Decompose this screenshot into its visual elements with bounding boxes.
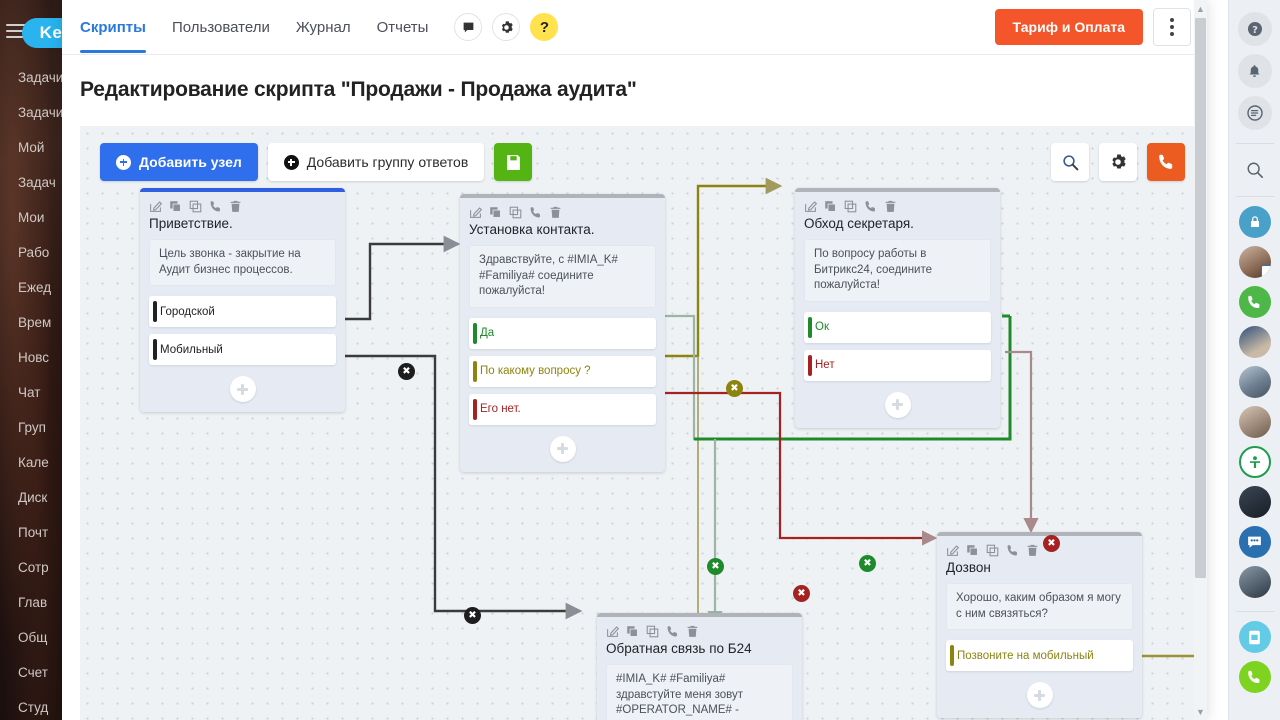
left-sidebar-item[interactable]: Задачи [0,95,62,130]
edit-icon[interactable] [469,206,482,219]
node-title: Установка контакта. [469,222,656,237]
script-canvas[interactable]: ✖ ✖ ✖ ✖ ✖ ✖ ✖ ✖ Добавить узел Добавить г… [80,126,1207,720]
left-sidebar-item[interactable]: Диск [0,480,62,515]
tab-users[interactable]: Пользователи [172,2,270,52]
duplicate-icon[interactable] [509,206,522,219]
node-answers: Да По какому вопросу ? Его нет. [469,318,656,425]
canvas-settings-button[interactable] [1099,143,1137,181]
copy-icon[interactable] [489,206,502,219]
node-obhod-sekretarya[interactable]: Обход секретаря. По вопросу работы в Бит… [795,188,1000,428]
avatar[interactable] [1239,406,1271,438]
gear-icon [1110,154,1126,170]
scrollbar-thumb[interactable] [1195,18,1206,578]
cloud-phone-icon[interactable] [1239,621,1271,653]
avatar[interactable] [1239,566,1271,598]
edge-marker-3[interactable]: ✖ [726,380,743,397]
save-icon [505,154,522,171]
bell-icon[interactable] [1238,54,1272,88]
more-options-button[interactable] [1153,8,1191,46]
copy-icon[interactable] [966,544,979,557]
workspace-logo[interactable]: Ke [22,18,62,48]
left-sidebar: Ke ЗадачиЗадачиМой ЗадачМои РабоЕжедВрем… [0,0,62,720]
node-ustanovka-kontakta[interactable]: Установка контакта. Здравствуйте, с #IMI… [460,194,665,472]
vertical-scrollbar[interactable]: ▲ ▼ [1194,0,1207,720]
answer-option[interactable]: Его нет. [469,394,656,425]
left-sidebar-item[interactable]: Кале [0,445,62,480]
edit-icon[interactable] [606,625,619,638]
app-root: Ke ЗадачиЗадачиМой ЗадачМои РабоЕжедВрем… [0,0,1280,720]
add-answer-button[interactable] [230,376,256,402]
canvas-toolbar: Добавить узел Добавить группу ответов [100,143,532,181]
plus-icon [284,155,299,170]
duplicate-icon[interactable] [986,544,999,557]
left-sidebar-item[interactable]: Груп [0,410,62,445]
left-sidebar-item[interactable]: Мои [0,200,62,235]
phone-icon[interactable] [1239,286,1271,318]
search-button[interactable] [1051,143,1089,181]
node-text: Цель звонка - закрытие на Аудит бизнес п… [149,239,336,286]
left-sidebar-item[interactable]: Задачи [0,60,62,95]
avatar[interactable] [1239,486,1271,518]
node-action-icons [804,200,991,213]
edge-marker-7[interactable]: ✖ [1043,535,1060,552]
answer-option[interactable]: Нет [804,350,991,381]
left-sidebar-item[interactable]: Почт [0,515,62,550]
save-button[interactable] [494,143,532,181]
node-body: Обход секретаря. По вопросу работы в Бит… [795,192,1000,428]
left-sidebar-item[interactable]: Глав [0,585,62,620]
left-sidebar-item[interactable]: Сотр [0,550,62,585]
node-privetstvie[interactable]: Приветствие. Цель звонка - закрытие на А… [140,188,345,412]
node-answers: Городской Мобильный [149,296,336,365]
call-button[interactable] [1147,143,1185,181]
group-chat-icon[interactable] [1239,526,1271,558]
edit-icon[interactable] [149,200,162,213]
left-sidebar-item[interactable]: Мой [0,130,62,165]
add-answer-group-button[interactable]: Добавить группу ответов [268,143,485,181]
search-icon[interactable] [1238,153,1272,187]
add-answer-button[interactable] [885,392,911,418]
left-sidebar-item[interactable]: Новс [0,340,62,375]
edge-marker-5[interactable]: ✖ [859,555,876,572]
left-sidebar-items: ЗадачиЗадачиМой ЗадачМои РабоЕжедВремНов… [0,60,62,720]
trash-icon[interactable] [884,200,897,213]
answer-option[interactable]: Ок [804,312,991,343]
tab-reports[interactable]: Отчеты [377,2,429,52]
left-sidebar-item[interactable]: Счет [0,655,62,690]
right-icon-rail: ? [1228,0,1280,720]
top-navigation: Скрипты Пользователи Журнал Отчеты ? Тар… [62,0,1207,55]
help-icon[interactable]: ? [1238,12,1272,46]
node-action-icons [469,206,656,219]
tab-scripts[interactable]: Скрипты [80,2,146,52]
person-circle-icon[interactable] [1239,446,1271,478]
trash-icon[interactable] [686,625,699,638]
left-sidebar-item[interactable]: Чат [0,375,62,410]
node-action-icons [946,544,1133,557]
avatar[interactable] [1239,246,1271,278]
scroll-down-icon[interactable]: ▼ [1194,704,1207,719]
node-text: Хорошо, каким образом я могу с ним связя… [946,583,1133,630]
phone-icon[interactable] [209,200,222,213]
call-icon[interactable] [1239,661,1271,693]
duplicate-icon[interactable] [646,625,659,638]
add-node-button[interactable]: Добавить узел [100,143,258,181]
answer-option[interactable]: По какому вопросу ? [469,356,656,387]
tariff-and-payment-button[interactable]: Тариф и Оплата [995,9,1143,45]
avatar[interactable] [1239,326,1271,358]
edit-icon[interactable] [804,200,817,213]
node-body: Дозвон Хорошо, каким образом я могу с ни… [937,536,1142,718]
add-answer-button[interactable] [550,436,576,462]
node-answers: Позвоните на мобильный [946,640,1133,671]
avatar[interactable] [1239,366,1271,398]
node-text: Здравствуйте, с #IMIA_K# #Familiya# соед… [469,245,656,308]
duplicate-icon[interactable] [844,200,857,213]
left-sidebar-item[interactable]: Студ [0,690,62,720]
svg-text:?: ? [1252,25,1258,36]
edge-marker-6[interactable]: ✖ [793,585,810,602]
answer-option[interactable]: Позвоните на мобильный [946,640,1133,671]
left-sidebar-item[interactable]: Ежед [0,270,62,305]
lock-icon[interactable] [1239,206,1271,238]
add-answer-group-label: Добавить группу ответов [307,154,469,170]
scroll-up-icon[interactable]: ▲ [1194,1,1207,16]
node-title: Обратная связь по Б24 [606,641,793,656]
left-sidebar-item[interactable]: Врем [0,305,62,340]
node-title: Дозвон [946,560,1133,575]
search-icon [1062,154,1079,171]
chat-icon[interactable] [454,13,482,41]
node-text: По вопросу работы в Битрикс24, соедините… [804,239,991,302]
node-title: Приветствие. [149,216,336,231]
node-body: Обратная связь по Б24 #IMIA_K# #Familiya… [597,617,802,720]
main-panel: Скрипты Пользователи Журнал Отчеты ? Тар… [62,0,1207,720]
copy-icon[interactable] [169,200,182,213]
node-body: Установка контакта. Здравствуйте, с #IMI… [460,198,665,472]
mobile-badge-icon [1261,265,1271,278]
rail-divider [1236,611,1274,612]
left-sidebar-item[interactable]: Общ [0,620,62,655]
node-body: Приветствие. Цель звонка - закрытие на А… [140,192,345,412]
phone-icon[interactable] [1006,544,1019,557]
copy-icon[interactable] [626,625,639,638]
add-node-label: Добавить узел [139,154,242,170]
phone-icon[interactable] [864,200,877,213]
node-action-icons [149,200,336,213]
tab-journal[interactable]: Журнал [296,2,351,52]
left-sidebar-item[interactable]: Задач [0,165,62,200]
node-action-icons [606,625,793,638]
plus-icon [116,155,131,170]
node-obratnaya-svyaz-b24[interactable]: Обратная связь по Б24 #IMIA_K# #Familiya… [597,613,802,720]
left-sidebar-item[interactable]: Рабо [0,235,62,270]
edge-marker-2[interactable]: ✖ [464,607,481,624]
trash-icon[interactable] [1026,544,1039,557]
node-title: Обход секретаря. [804,216,991,231]
node-dozvon[interactable]: Дозвон Хорошо, каким образом я могу с ни… [937,532,1142,718]
gear-icon[interactable] [492,13,520,41]
phone-icon [1157,153,1175,171]
copy-icon[interactable] [824,200,837,213]
answer-option[interactable]: Да [469,318,656,349]
node-answers: Ок Нет [804,312,991,381]
edge-marker-4[interactable]: ✖ [707,558,724,575]
edit-icon[interactable] [946,544,959,557]
trash-icon[interactable] [549,206,562,219]
duplicate-icon[interactable] [189,200,202,213]
phone-icon[interactable] [666,625,679,638]
help-icon[interactable]: ? [530,13,558,41]
node-text: #IMIA_K# #Familiya# здравстуйте меня зов… [606,664,793,720]
edge-marker-1[interactable]: ✖ [398,363,415,380]
canvas-tools [1041,143,1185,181]
rail-divider [1236,143,1274,144]
trash-icon[interactable] [229,200,242,213]
topnav-right-group: Тариф и Оплата [995,8,1191,46]
add-answer-button[interactable] [1027,682,1053,708]
answer-option[interactable]: Городской [149,296,336,327]
phone-icon[interactable] [529,206,542,219]
page-title: Редактирование скрипта "Продажи - Продаж… [62,55,1207,102]
rail-divider [1236,196,1274,197]
messages-icon[interactable] [1238,96,1272,130]
answer-option[interactable]: Мобильный [149,334,336,365]
